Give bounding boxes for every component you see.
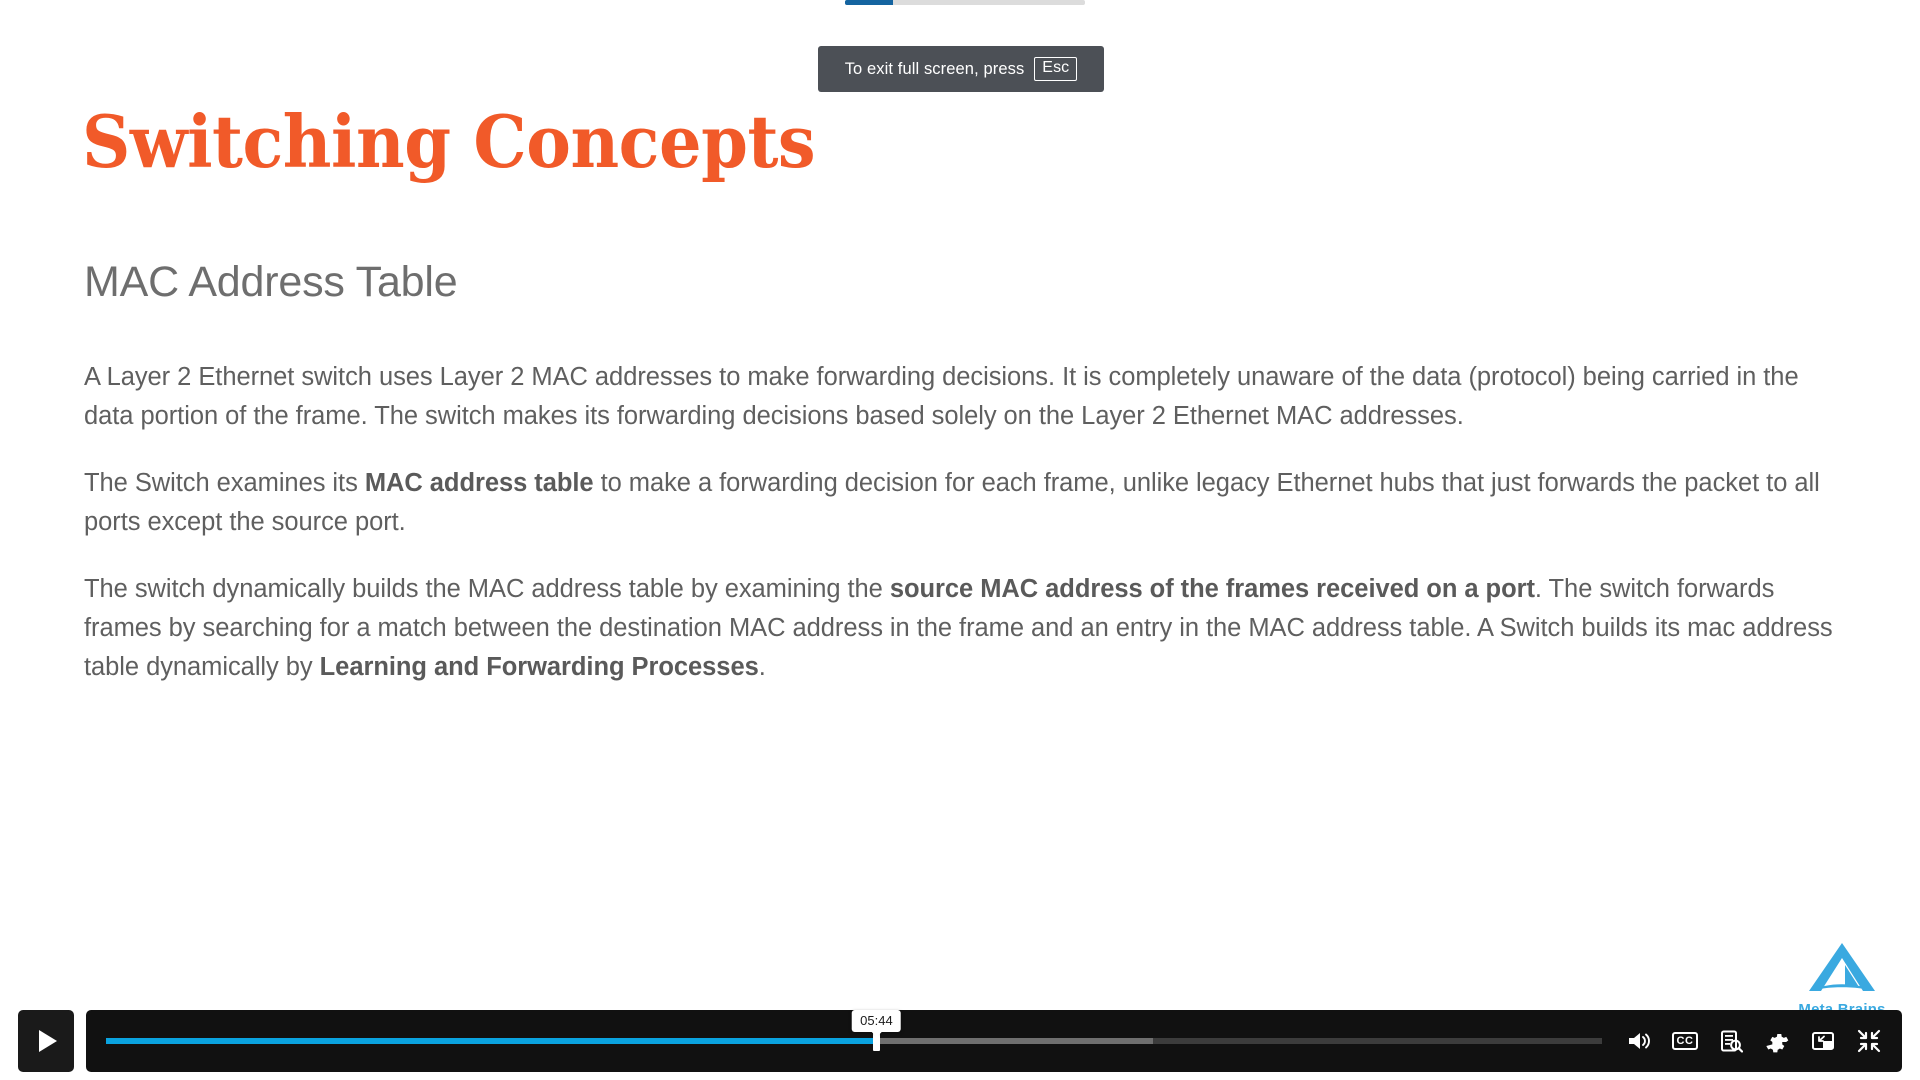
paragraph: A Layer 2 Ethernet switch uses Layer 2 M… xyxy=(84,358,1834,436)
picture-in-picture-icon xyxy=(1811,1030,1835,1052)
paragraph: The switch dynamically builds the MAC ad… xyxy=(84,570,1834,687)
settings-gear-icon xyxy=(1765,1029,1789,1053)
body-text: . xyxy=(759,653,766,681)
seek-track[interactable] xyxy=(106,1038,1602,1044)
exit-fullscreen-button[interactable] xyxy=(1854,1026,1884,1056)
screen: To exit full screen, press Esc Switching… xyxy=(0,0,1920,1080)
body-text: A Layer 2 Ethernet switch uses Layer 2 M… xyxy=(84,363,1799,430)
closed-captions-icon: CC xyxy=(1672,1032,1699,1051)
emphasis-text: MAC address table xyxy=(365,469,594,497)
body-text: The Switch examines its xyxy=(84,469,365,497)
emphasis-text: source MAC address of the frames receive… xyxy=(890,575,1535,603)
brand-logo: Meta Brains xyxy=(1788,941,1896,1018)
play-icon xyxy=(39,1030,57,1052)
paragraph: The Switch examines its MAC address tabl… xyxy=(84,464,1834,542)
exit-fullscreen-icon xyxy=(1857,1029,1881,1053)
emphasis-text: Learning and Forwarding Processes xyxy=(320,653,759,681)
body-copy: A Layer 2 Ethernet switch uses Layer 2 M… xyxy=(84,358,1834,687)
seek-bar[interactable]: 05:44 xyxy=(106,1010,1602,1072)
video-player-controls: 05:44 CC xyxy=(0,1010,1920,1072)
player-buttons: CC xyxy=(1624,1026,1884,1056)
volume-icon xyxy=(1626,1029,1652,1053)
transcript-search-icon xyxy=(1719,1029,1743,1053)
transcript-button[interactable] xyxy=(1716,1026,1746,1056)
section-heading: MAC Address Table xyxy=(84,258,457,307)
closed-captions-button[interactable]: CC xyxy=(1670,1026,1700,1056)
picture-in-picture-button[interactable] xyxy=(1808,1026,1838,1056)
body-text: The switch dynamically builds the MAC ad… xyxy=(84,575,890,603)
slide-content: Switching Concepts MAC Address Table A L… xyxy=(0,0,1920,1080)
seek-played xyxy=(106,1038,876,1044)
player-control-bar: 05:44 CC xyxy=(86,1010,1902,1072)
page-title: Switching Concepts xyxy=(82,106,815,178)
volume-button[interactable] xyxy=(1624,1026,1654,1056)
seek-time-tooltip: 05:44 xyxy=(852,1010,901,1032)
settings-button[interactable] xyxy=(1762,1026,1792,1056)
meta-brains-triangle-icon xyxy=(1805,941,1879,999)
play-button[interactable] xyxy=(18,1010,74,1072)
